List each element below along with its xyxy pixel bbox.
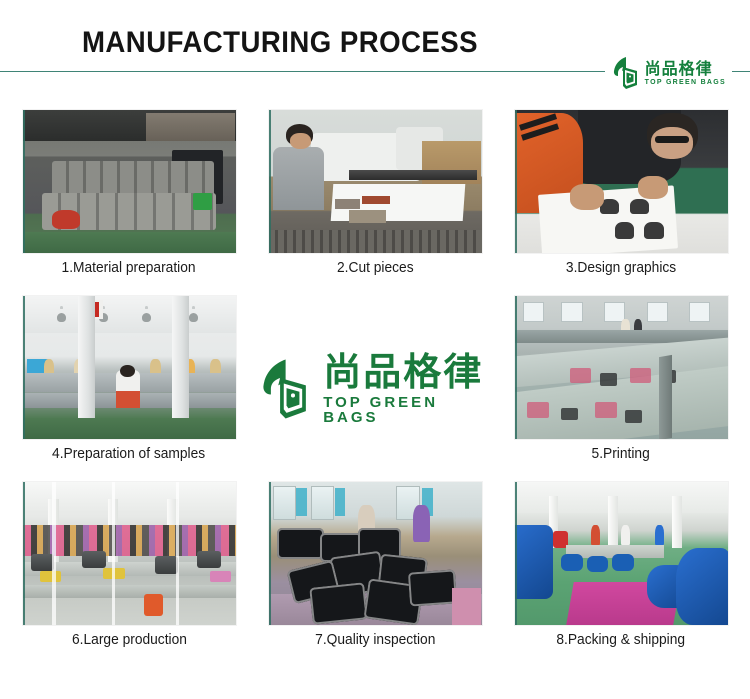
header-logo-text: 尚品格律 TOP GREEN BAGS (645, 61, 726, 86)
manufacturing-process-page: MANUFACTURING PROCESS 尚品格律 TOP GREEN BAG… (0, 0, 750, 699)
step-7-caption: 7.Quality inspection (315, 632, 435, 648)
header-logo-english: TOP GREEN BAGS (645, 79, 726, 86)
step-1-caption: 1.Material preparation (62, 260, 196, 276)
process-step-7: 7.Quality inspection (258, 482, 492, 668)
page-title: MANUFACTURING PROCESS (22, 26, 537, 60)
step-2-photo (269, 110, 482, 253)
green-bag-logo-icon (611, 56, 641, 90)
step-7-photo (269, 482, 482, 625)
step-1-photo (23, 110, 236, 253)
center-brand-logo: 尚品格律 TOP GREEN BAGS (258, 296, 492, 482)
step-2-caption: 2.Cut pieces (337, 260, 414, 276)
process-step-5: 5.Printing (504, 296, 738, 482)
header-logo: 尚品格律 TOP GREEN BAGS (605, 54, 732, 92)
center-logo-english: TOP GREEN BAGS (323, 395, 492, 425)
process-step-4: 4.Preparation of samples (12, 296, 246, 482)
center-logo-chinese: 尚品格律 (323, 353, 492, 391)
process-step-2: 2.Cut pieces (258, 110, 492, 296)
process-step-8: 8.Packing & shipping (504, 482, 738, 668)
header-logo-chinese: 尚品格律 (645, 61, 726, 77)
step-4-caption: 4.Preparation of samples (52, 446, 205, 462)
process-step-3: 3.Design graphics (504, 110, 738, 296)
process-step-6: 6.Large production (12, 482, 246, 668)
step-3-caption: 3.Design graphics (566, 260, 676, 276)
green-bag-logo-icon (258, 356, 313, 422)
step-3-photo (515, 110, 728, 253)
step-4-photo (23, 296, 236, 439)
step-6-photo (23, 482, 236, 625)
page-header: MANUFACTURING PROCESS 尚品格律 TOP GREEN BAG… (0, 0, 750, 110)
step-6-caption: 6.Large production (72, 632, 187, 648)
step-8-photo (515, 482, 728, 625)
step-8-caption: 8.Packing & shipping (557, 632, 686, 648)
step-5-caption: 5.Printing (592, 446, 650, 462)
process-steps-grid: 1.Material preparation 2.Cut pieces (0, 110, 750, 668)
step-5-photo (515, 296, 728, 439)
process-step-1: 1.Material preparation (12, 110, 246, 296)
